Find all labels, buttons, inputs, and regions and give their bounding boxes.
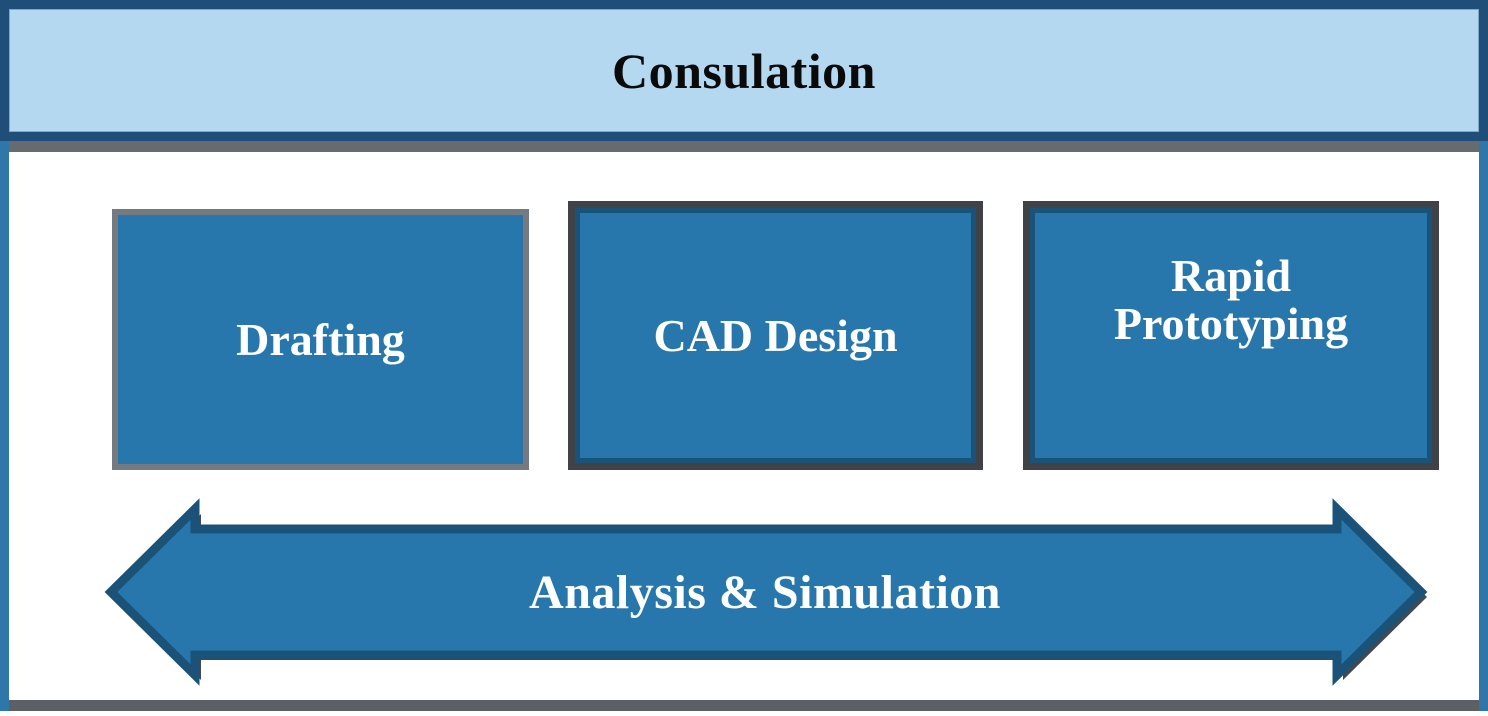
body-top-edge <box>9 141 1479 152</box>
process-box-drafting[interactable]: Drafting <box>112 209 529 470</box>
process-box-cad-design-label: CAD Design <box>653 312 897 360</box>
rapid-prototyping-line-2: Prototyping <box>1114 298 1348 349</box>
double-arrow-shape <box>100 498 1448 690</box>
body-bottom-edge <box>9 700 1479 711</box>
rapid-prototyping-line-1: Rapid <box>1171 250 1291 301</box>
process-box-drafting-label: Drafting <box>236 316 405 364</box>
analysis-simulation-arrow[interactable]: Analysis & Simulation <box>100 498 1448 690</box>
body-left-edge <box>0 141 9 711</box>
double-arrow-body <box>111 509 1421 675</box>
consultation-header-fill: Consulation <box>9 9 1479 132</box>
diagram-canvas: Consulation Drafting CAD Design RapidPro… <box>0 0 1488 716</box>
consultation-header-band: Consulation <box>0 0 1488 141</box>
consultation-header-label: Consulation <box>612 46 876 96</box>
process-box-rapid-prototyping[interactable]: RapidPrototyping <box>1023 201 1439 470</box>
process-box-cad-design[interactable]: CAD Design <box>568 201 983 470</box>
body-right-edge <box>1479 141 1488 711</box>
process-box-rapid-prototyping-label: RapidPrototyping <box>1030 252 1432 348</box>
